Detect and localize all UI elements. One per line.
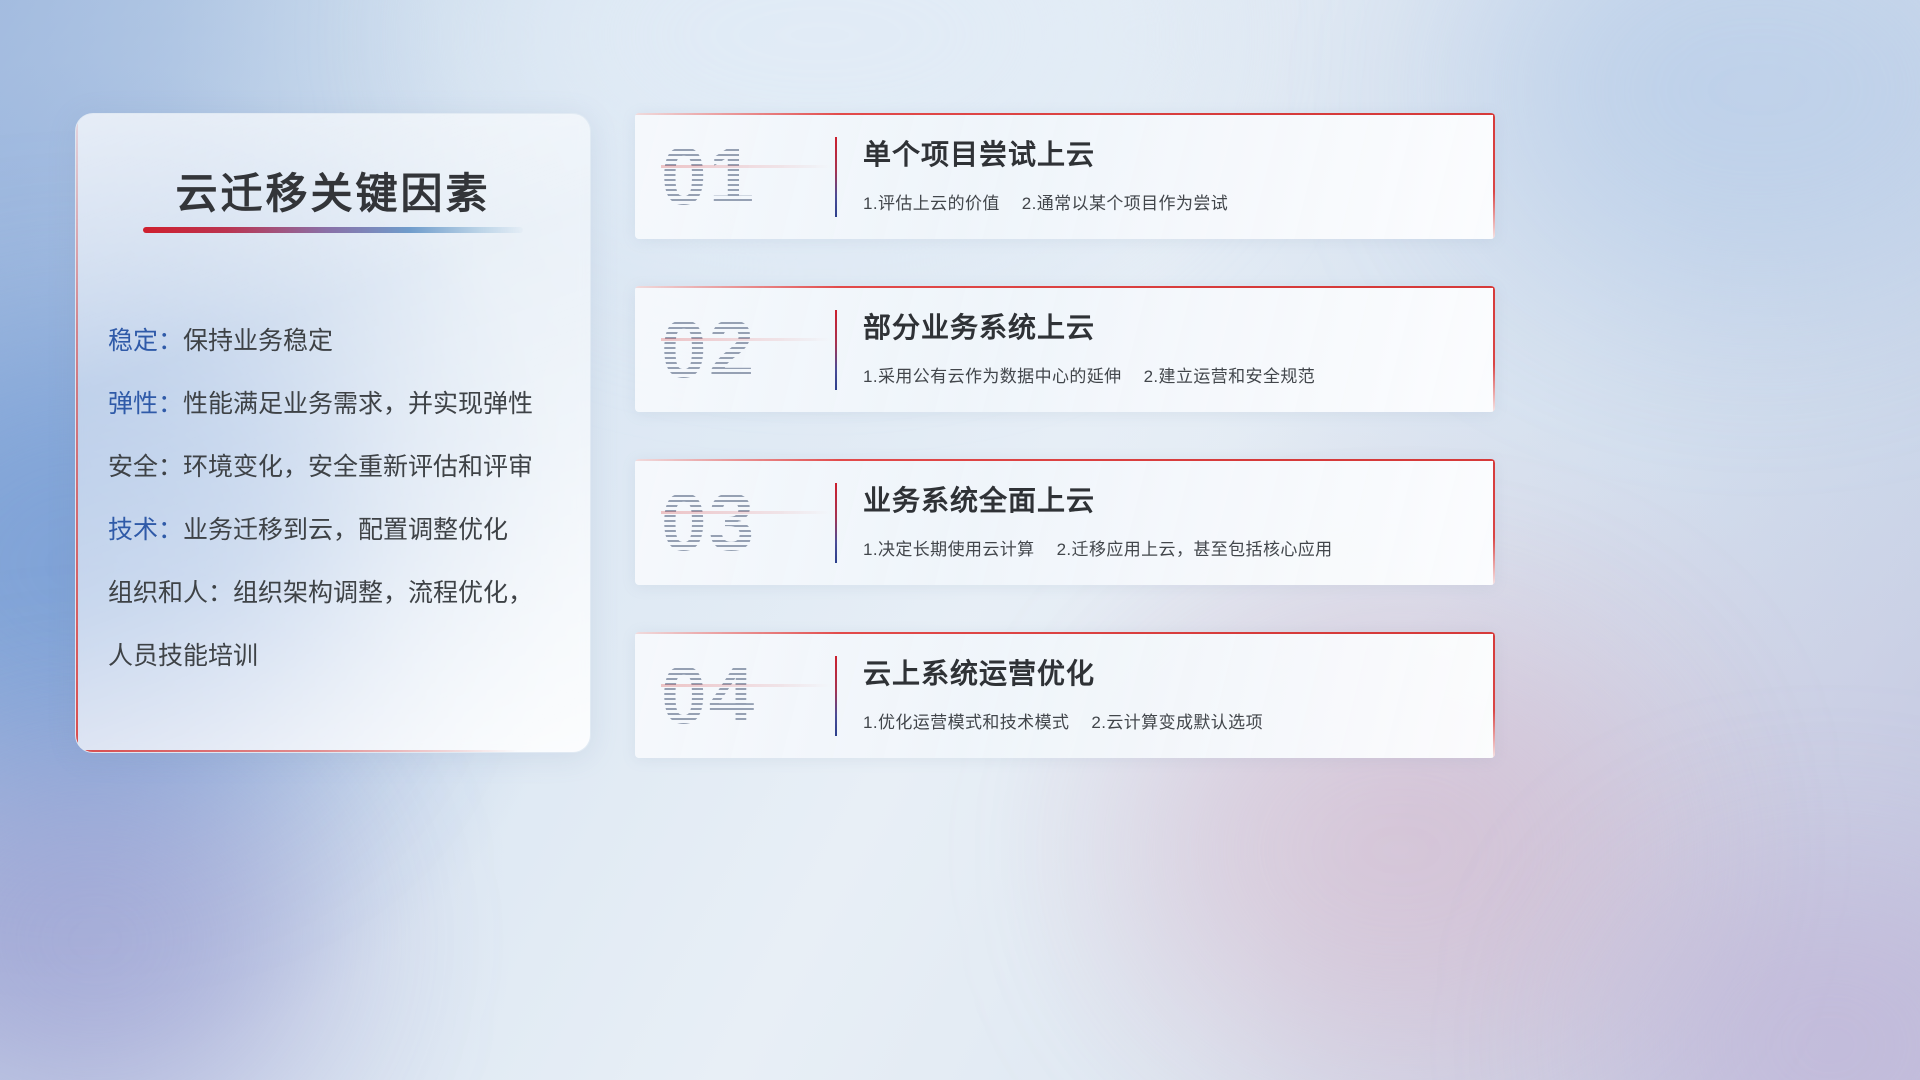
stage-points: 1.采用公有云作为数据中心的延伸2.建立运营和安全规范 [863, 362, 1471, 387]
stage-divider-bar [835, 310, 837, 390]
stage-title: 单个项目尝试上云 [863, 135, 1471, 175]
key-factor-item: 弹性：性能满足业务需求，并实现弹性 [108, 373, 566, 436]
stage-body: 部分业务系统上云1.采用公有云作为数据中心的延伸2.建立运营和安全规范 [863, 308, 1471, 387]
background-blob [1620, 880, 1920, 1080]
stage-point: 2.迁移应用上云，甚至包括核心应用 [1057, 540, 1333, 559]
key-factor-description: 组织架构调整，流程优化， [233, 579, 533, 607]
stage-title: 部分业务系统上云 [863, 308, 1471, 348]
stage-point: 2.建立运营和安全规范 [1144, 367, 1316, 386]
title-underline-accent [143, 227, 523, 233]
stage-points: 1.决定长期使用云计算2.迁移应用上云，甚至包括核心应用 [863, 535, 1471, 560]
stage-divider-bar [835, 137, 837, 217]
stage-points: 1.评估上云的价值2.通常以某个项目作为尝试 [863, 189, 1471, 214]
key-factors-list: 稳定：保持业务稳定弹性：性能满足业务需求，并实现弹性安全：环境变化，安全重新评估… [108, 310, 566, 688]
stage-number: 03 [661, 475, 831, 571]
key-factor-description: 人员技能培训 [108, 642, 258, 670]
stage-point: 2.云计算变成默认选项 [1091, 713, 1263, 732]
stage-title: 业务系统全面上云 [863, 481, 1471, 521]
key-factor-item: 人员技能培训 [108, 625, 566, 688]
stage-card[interactable]: 03业务系统全面上云1.决定长期使用云计算2.迁移应用上云，甚至包括核心应用 [635, 459, 1495, 585]
stage-point: 2.通常以某个项目作为尝试 [1022, 194, 1228, 213]
stage-point: 1.采用公有云作为数据中心的延伸 [863, 367, 1122, 386]
page-title: 云迁移关键因素 [76, 160, 590, 221]
cloud-migration-stages: 01单个项目尝试上云1.评估上云的价值2.通常以某个项目作为尝试02部分业务系统… [635, 113, 1495, 805]
stage-title: 云上系统运营优化 [863, 654, 1471, 694]
key-factor-description: 性能满足业务需求，并实现弹性 [183, 390, 533, 418]
stage-points: 1.优化运营模式和技术模式2.云计算变成默认选项 [863, 708, 1471, 733]
stage-card[interactable]: 01单个项目尝试上云1.评估上云的价值2.通常以某个项目作为尝试 [635, 113, 1495, 239]
key-factor-item: 组织和人：组织架构调整，流程优化， [108, 562, 566, 625]
key-factor-item: 稳定：保持业务稳定 [108, 310, 566, 373]
key-factor-item: 安全：环境变化，安全重新评估和评审 [108, 436, 566, 499]
key-factor-description: 业务迁移到云，配置调整优化 [183, 516, 508, 544]
stage-divider-bar [835, 483, 837, 563]
key-factor-label: 安全： [108, 453, 183, 481]
stage-number: 01 [661, 129, 831, 225]
key-factors-panel: 云迁移关键因素 稳定：保持业务稳定弹性：性能满足业务需求，并实现弹性安全：环境变… [75, 113, 591, 753]
stage-body: 业务系统全面上云1.决定长期使用云计算2.迁移应用上云，甚至包括核心应用 [863, 481, 1471, 560]
key-factor-label: 组织和人： [108, 579, 233, 607]
stage-number: 04 [661, 648, 831, 744]
key-factor-description: 保持业务稳定 [183, 327, 333, 355]
key-factor-label: 稳定： [108, 327, 183, 355]
background-blob [1480, 0, 1920, 300]
stage-point: 1.优化运营模式和技术模式 [863, 713, 1069, 732]
stage-card[interactable]: 04云上系统运营优化1.优化运营模式和技术模式2.云计算变成默认选项 [635, 632, 1495, 758]
stage-body: 单个项目尝试上云1.评估上云的价值2.通常以某个项目作为尝试 [863, 135, 1471, 214]
key-factor-label: 技术： [108, 516, 183, 544]
stage-divider-bar [835, 656, 837, 736]
slide-canvas: 云迁移关键因素 稳定：保持业务稳定弹性：性能满足业务需求，并实现弹性安全：环境变… [0, 0, 1920, 1080]
stage-point: 1.决定长期使用云计算 [863, 540, 1035, 559]
key-factor-label: 弹性： [108, 390, 183, 418]
stage-point: 1.评估上云的价值 [863, 194, 1000, 213]
key-factor-item: 技术：业务迁移到云，配置调整优化 [108, 499, 566, 562]
background-blob [0, 760, 310, 1080]
stage-card[interactable]: 02部分业务系统上云1.采用公有云作为数据中心的延伸2.建立运营和安全规范 [635, 286, 1495, 412]
stage-number: 02 [661, 302, 831, 398]
stage-body: 云上系统运营优化1.优化运营模式和技术模式2.云计算变成默认选项 [863, 654, 1471, 733]
key-factor-description: 环境变化，安全重新评估和评审 [183, 453, 533, 481]
